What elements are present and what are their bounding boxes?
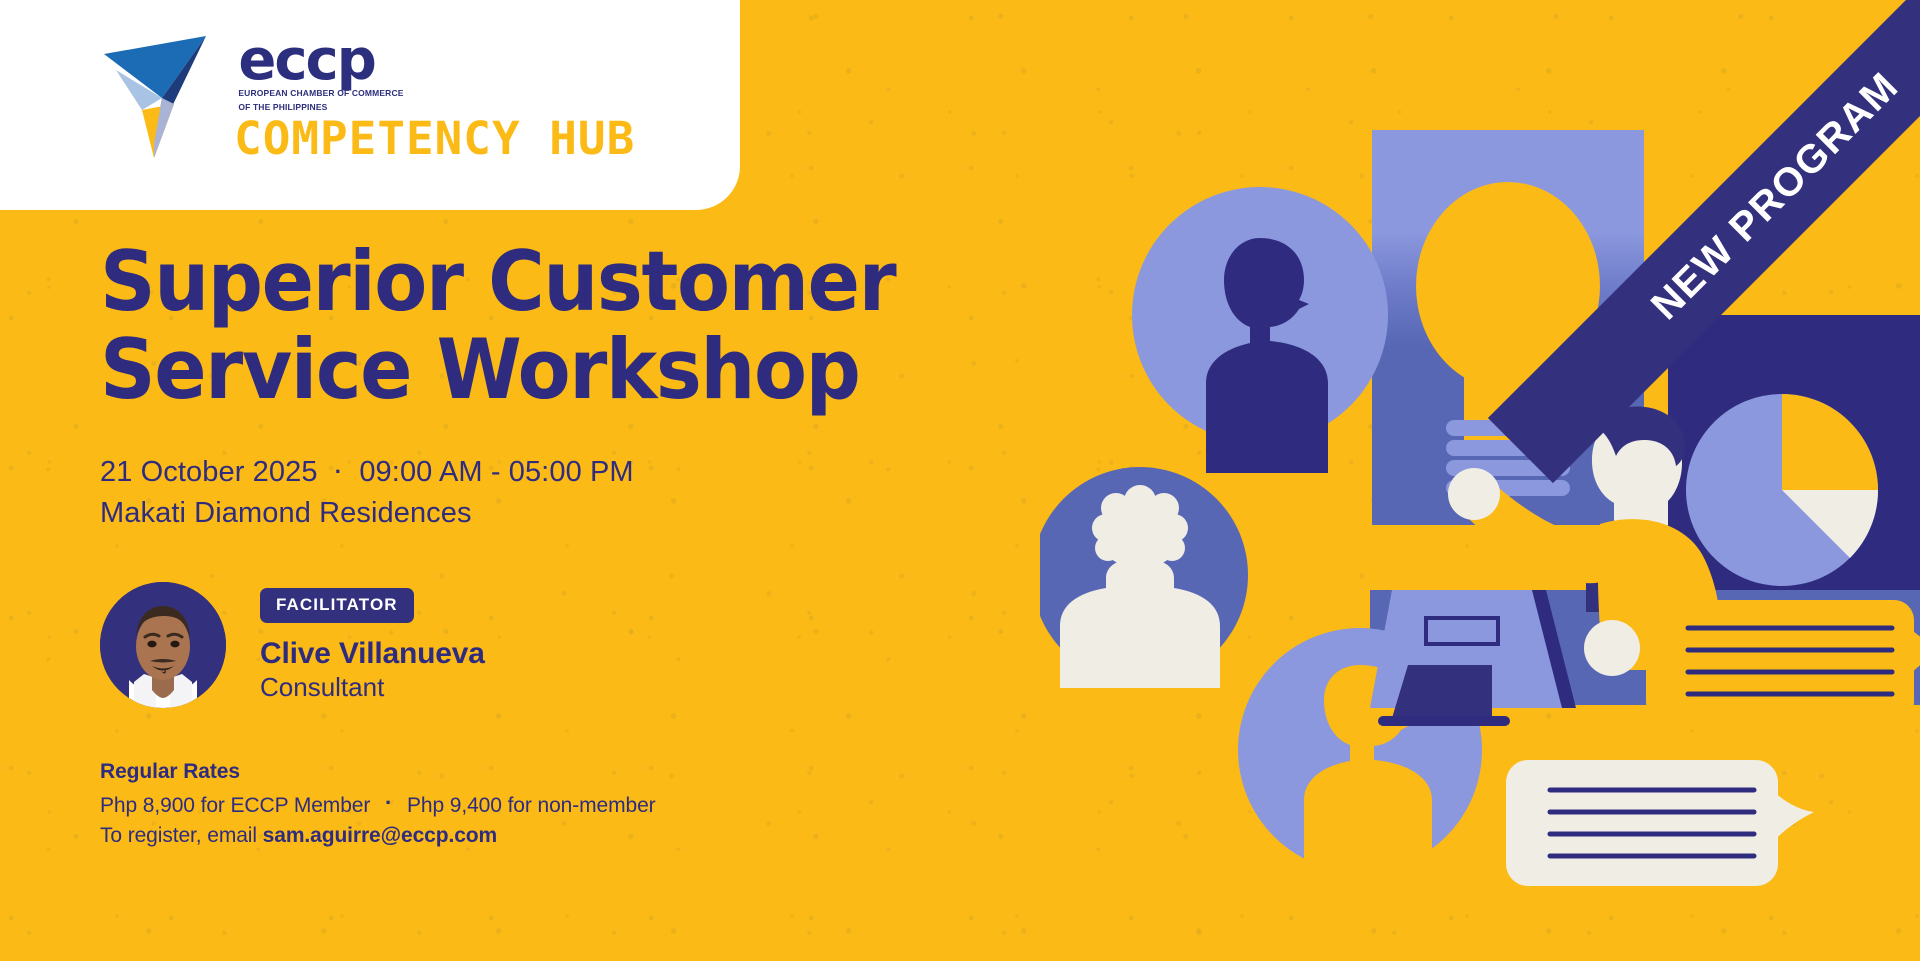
facilitator-block: FACILITATOR Clive Villanueva Consultant [100, 582, 980, 708]
rates-block: Regular Rates Php 8,900 for ECCP Member … [100, 760, 980, 848]
status-badge: FACILITATOR [260, 588, 414, 623]
speech-bubble-cream [1506, 760, 1814, 886]
register-prefix: To register, email [100, 824, 263, 847]
register-email[interactable]: sam.aguirre@eccp.com [263, 824, 497, 847]
meta-separator-icon: · [335, 456, 342, 487]
logo-card: eccp EUROPEAN CHAMBER OF COMMERCE OF THE… [0, 0, 740, 210]
register-line: To register, email sam.aguirre@eccp.com [100, 824, 980, 848]
facilitator-name: Clive Villanueva [260, 637, 485, 671]
avatar-circle-periwinkle-navy [1132, 187, 1388, 473]
event-date: 21 October 2025 [100, 456, 318, 488]
eccp-wordmark: eccp [238, 37, 374, 85]
laptop [1370, 590, 1576, 726]
nonmember-price: Php 9,400 for non-member [407, 794, 656, 817]
speech-bubble-yellow [1646, 600, 1920, 722]
rates-heading: Regular Rates [100, 760, 980, 784]
title-line-2: Service Workshop [100, 321, 859, 418]
eccp-arrow-logo-icon [102, 32, 226, 167]
event-content: Superior Customer Service Workshop 21 Oc… [100, 238, 980, 848]
rates-prices: Php 8,900 for ECCP Member · Php 9,400 fo… [100, 790, 980, 818]
title-line-1: Superior Customer [100, 233, 895, 330]
rates-separator-icon: · [385, 790, 392, 816]
event-time: 09:00 AM - 05:00 PM [359, 456, 633, 488]
avatar-circle-midblue-cream [1040, 467, 1248, 688]
event-meta: 21 October 2025 · 09:00 AM - 05:00 PM Ma… [100, 452, 980, 534]
facilitator-role: Consultant [260, 672, 485, 703]
page-title: Superior Customer Service Workshop [100, 238, 918, 414]
promo-banner: NEW PROGRAM eccp EUROPEAN CHAMBER OF COM… [0, 0, 1920, 961]
eccp-subtitle-line1: EUROPEAN CHAMBER OF COMMERCE [238, 88, 403, 99]
event-datetime: 21 October 2025 · 09:00 AM - 05:00 PM [100, 452, 980, 493]
competency-hub-wordmark: COMPETENCY HUB [234, 116, 635, 161]
member-price: Php 8,900 for ECCP Member [100, 794, 370, 817]
event-venue: Makati Diamond Residences [100, 493, 980, 534]
avatar [100, 582, 226, 708]
eccp-subtitle-line2: OF THE PHILIPPINES [238, 102, 327, 113]
